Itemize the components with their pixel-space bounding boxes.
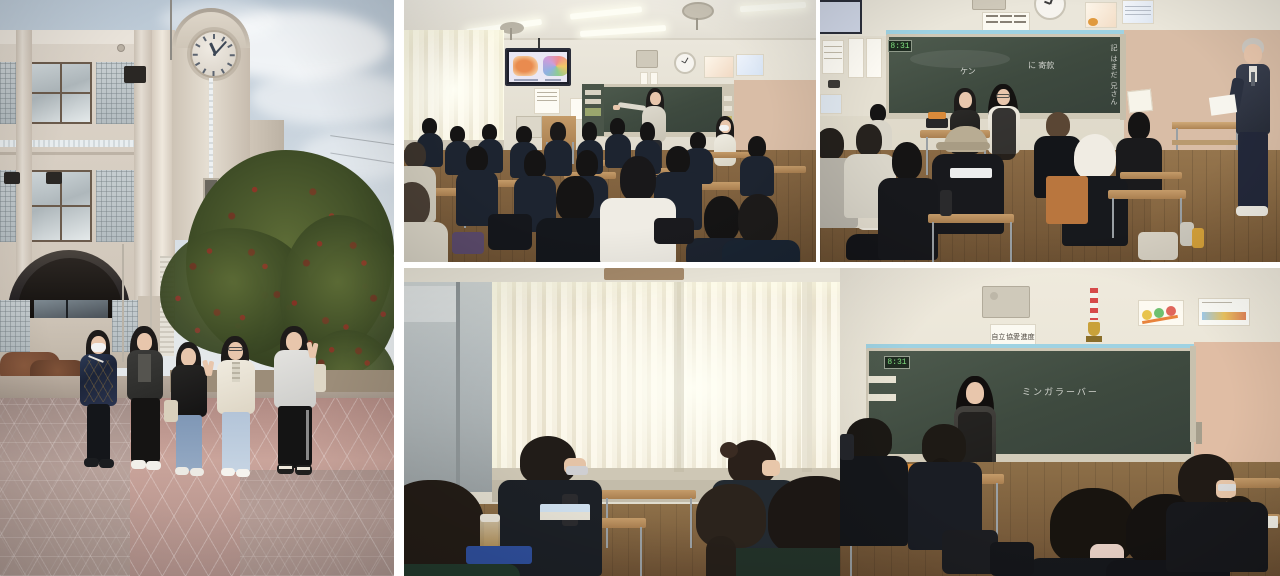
- digital-clock-display: 8:31: [884, 356, 910, 369]
- chalk-text-vertical: 記 はまだ 兄さん: [1110, 44, 1117, 106]
- photo-bottom-right-blackboard-section[interactable]: 自立 協愛 進度 8:31: [840, 268, 1280, 576]
- digital-clock-display: 8:31: [888, 40, 912, 52]
- motto-char-3: 進度: [1021, 332, 1035, 342]
- chalk-text-greeting: ミンガラーバー: [1022, 388, 1099, 397]
- photo-classroom-presentation-map[interactable]: Classroom with a presenter pointing at t…: [404, 0, 816, 262]
- photo-school-exterior-group[interactable]: Japanese school building with clock towe…: [0, 0, 394, 576]
- chalk-text-left: ケン: [960, 68, 976, 76]
- blackboard: [866, 348, 1194, 458]
- motto-char-1: 自立: [991, 332, 1005, 342]
- tower-clock: [190, 30, 238, 78]
- motto-char-2: 協愛: [1006, 332, 1020, 342]
- photo-collage: Japanese school building with clock towe…: [0, 0, 1280, 576]
- chalk-text-center: に 寄款: [1028, 62, 1054, 70]
- photo-classroom-two-presenters[interactable]: 8:31 ケン に 寄款 記 はまだ 兄さん: [820, 0, 1280, 262]
- wall-clock: [674, 52, 696, 74]
- trophy: [1086, 288, 1102, 344]
- wall-screen-maps: [505, 48, 571, 86]
- wall-speaker: [982, 286, 1030, 318]
